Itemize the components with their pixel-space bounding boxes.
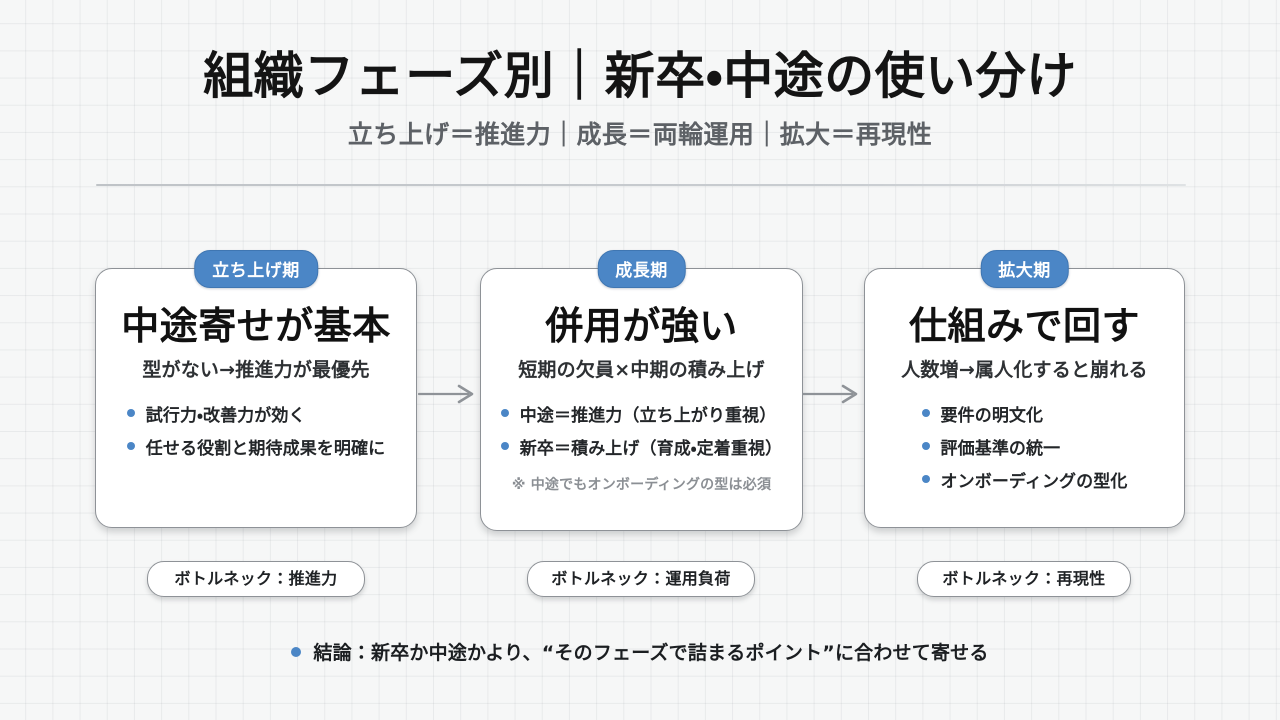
bullet-dot-icon [922,475,930,483]
list-item-label: オンボーディングの型化 [941,472,1128,492]
conclusion-row: 結論：新卒か中途かより、“そのフェーズで詰まるポイント”に合わせて寄せる [0,638,1280,665]
bottleneck-pill-growth: ボトルネック：運用負荷 [527,561,755,597]
bullet-dot-icon [922,409,930,417]
list-item-label: 任せる役割と期待成果を明確に [146,439,385,459]
phase-card-growth: 成長期 併用が強い 短期の欠員×中期の積み上げ 中途＝推進力（立ち上がり重視） … [480,268,803,531]
list-item: 新卒＝積み上げ（育成・定着重視） [501,434,782,459]
bullet-dot-icon [922,442,930,450]
arrow-phase2-to-phase3-icon [802,383,864,405]
phase-badge: 拡大期 [980,250,1069,288]
conclusion-text-wrap: 結論：新卒か中途かより、“そのフェーズで詰まるポイント”に合わせて寄せる [291,638,988,665]
bottleneck-pill-expansion: ボトルネック：再現性 [917,561,1131,597]
phase-heading: 中途寄せが基本 [112,305,400,348]
phase-subheading: 人数増→属人化すると崩れる [881,355,1168,382]
slide-header: 組織フェーズ別｜新卒・中途の使い分け 立ち上げ＝推進力｜成長＝両輪運用｜拡大＝再… [0,48,1280,151]
list-item: 試行力・改善力が効く [127,401,385,426]
conclusion-label: 結論：新卒か中途かより、“そのフェーズで詰まるポイント”に合わせて寄せる [313,642,988,664]
bullet-dot-icon [127,442,135,450]
slide-canvas: 組織フェーズ別｜新卒・中途の使い分け 立ち上げ＝推進力｜成長＝両輪運用｜拡大＝再… [0,0,1280,720]
phase-subheading: 型がない→推進力が最優先 [112,355,400,382]
list-item: 評価基準の統一 [922,434,1128,459]
phase-heading: 併用が強い [497,305,786,348]
bullet-dot-icon [127,409,135,417]
phase-note: ※ 中途でもオンボーディングの型は必須 [497,474,786,494]
phase-subheading: 短期の欠員×中期の積み上げ [497,355,786,382]
phase-badge: 成長期 [597,250,686,288]
list-item-label: 要件の明文化 [941,406,1044,426]
bullet-dot-icon [291,647,301,657]
phase-heading: 仕組みで回す [881,305,1168,348]
list-item: 要件の明文化 [922,401,1128,426]
phase-card-startup: 立ち上げ期 中途寄せが基本 型がない→推進力が最優先 試行力・改善力が効く 任せ… [95,268,417,528]
list-item: 中途＝推進力（立ち上がり重視） [501,401,782,426]
phase-card-row: 立ち上げ期 中途寄せが基本 型がない→推進力が最優先 試行力・改善力が効く 任せ… [0,268,1280,534]
list-item-label: 中途＝推進力（立ち上がり重視） [520,406,777,426]
list-item-label: 新卒＝積み上げ（育成・定着重視） [520,439,782,459]
page-subtitle: 立ち上げ＝推進力｜成長＝両輪運用｜拡大＝再現性 [0,115,1280,151]
list-item-label: 試行力・改善力が効く [146,406,306,426]
phase-badge: 立ち上げ期 [194,250,318,288]
bottleneck-pill-startup: ボトルネック：推進力 [147,561,365,597]
bullet-dot-icon [501,442,509,450]
list-item-label: 評価基準の統一 [941,439,1061,459]
page-title: 組織フェーズ別｜新卒・中途の使い分け [0,48,1280,104]
phase-bullet-list: 試行力・改善力が効く 任せる役割と期待成果を明確に [127,401,385,459]
header-divider [96,184,1186,186]
arrow-phase1-to-phase2-icon [418,383,480,405]
phase-bullet-list: 要件の明文化 評価基準の統一 オンボーディングの型化 [922,401,1128,492]
bullet-dot-icon [501,409,509,417]
phase-card-expansion: 拡大期 仕組みで回す 人数増→属人化すると崩れる 要件の明文化 評価基準の統一 … [864,268,1185,528]
list-item: オンボーディングの型化 [922,467,1128,492]
phase-bullet-list: 中途＝推進力（立ち上がり重視） 新卒＝積み上げ（育成・定着重視） [501,401,782,459]
list-item: 任せる役割と期待成果を明確に [127,434,385,459]
